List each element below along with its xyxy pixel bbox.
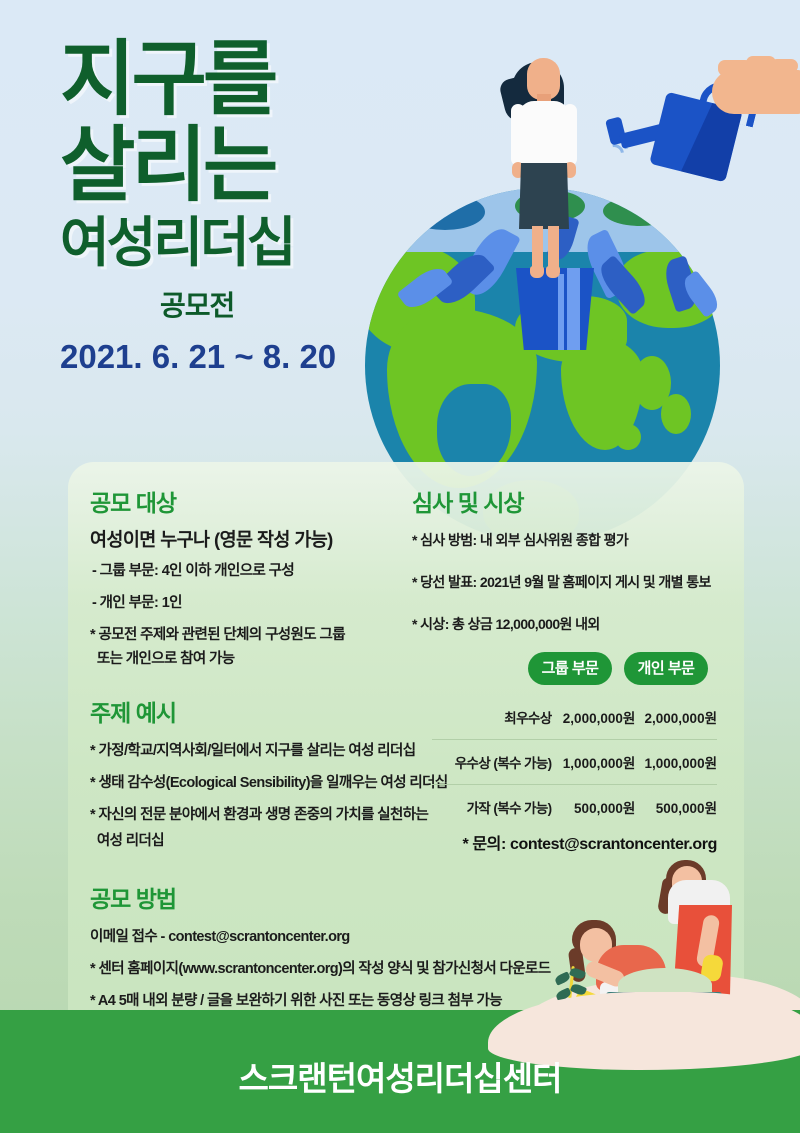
woman-foot-right bbox=[546, 266, 560, 278]
headline-line-1: 지구를 bbox=[60, 40, 460, 120]
section-title-judging: 심사 및 시상 bbox=[412, 484, 524, 518]
woman-hand-left bbox=[512, 162, 524, 178]
section-title-eligibility: 공모 대상 bbox=[90, 484, 176, 518]
section-title-topics: 주제 예시 bbox=[90, 694, 176, 728]
leaf-icon bbox=[594, 255, 652, 315]
leaf-icon bbox=[546, 214, 579, 262]
watering-can-rose bbox=[605, 116, 627, 145]
prize-name: 가작 (복수 가능) bbox=[432, 797, 552, 817]
howto-item: * 센터 홈페이지(www.scrantoncenter.org)의 작성 양식… bbox=[90, 958, 551, 980]
prize-individual-amount: 500,000원 bbox=[635, 797, 717, 817]
planter-pot bbox=[516, 268, 594, 350]
woman-hair bbox=[498, 76, 534, 125]
eligibility-item: - 개인 부문: 1인 bbox=[92, 592, 182, 614]
leaf-icon bbox=[661, 255, 702, 312]
headline-line-2: 살리는 bbox=[60, 126, 460, 206]
woman-arm-left bbox=[511, 104, 525, 166]
woman-arm-right bbox=[563, 104, 577, 166]
judging-item: * 당선 발표: 2021년 9월 말 홈페이지 게시 및 개별 통보 bbox=[412, 572, 711, 592]
hand-icon bbox=[712, 70, 800, 114]
watering-can-shadow bbox=[649, 92, 743, 183]
woman-neck bbox=[537, 94, 551, 108]
table-row: 최우수상 2,000,000원 2,000,000원 bbox=[432, 695, 717, 740]
topic-item: 여성 리더십 bbox=[90, 830, 164, 852]
watering-can-body bbox=[649, 92, 743, 183]
watering-can-handle bbox=[696, 78, 761, 128]
woman-leg-right bbox=[548, 226, 559, 274]
headline-line-3: 여성리더십 bbox=[60, 217, 460, 270]
eligibility-item: 또는 개인으로 참여 가능 bbox=[90, 648, 235, 670]
poster-root: 지구를 살리는 여성리더십 공모전 2021. 6. 21 ~ 8. 20 공모… bbox=[0, 0, 800, 1133]
table-row: 가작 (복수 가능) 500,000원 500,000원 bbox=[432, 785, 717, 829]
topic-item: * 자신의 전문 분야에서 환경과 생명 존중의 가치를 실천하는 bbox=[90, 804, 428, 826]
woman-leg-left bbox=[532, 226, 543, 274]
eligibility-item: * 공모전 주제와 관련된 단체의 구성원도 그룹 bbox=[90, 624, 345, 646]
prize-group-amount: 2,000,000원 bbox=[552, 707, 636, 727]
eligibility-item: - 그룹 부문: 4인 이하 개인으로 구성 bbox=[92, 560, 294, 582]
judging-item: * 시상: 총 상금 12,000,000원 내외 bbox=[412, 614, 600, 634]
leaf-icon bbox=[579, 229, 634, 300]
topic-item: * 가정/학교/지역사회/일터에서 지구를 살리는 여성 리더십 bbox=[90, 740, 416, 762]
woman-foot-left bbox=[530, 266, 544, 278]
contact-email: * 문의: contest@scrantoncenter.org bbox=[432, 830, 717, 854]
prize-name: 최우수상 bbox=[432, 707, 552, 727]
headline-block: 지구를 살리는 여성리더십 공모전 2021. 6. 21 ~ 8. 20 bbox=[60, 40, 460, 376]
organization-name: 스크랜턴여성리더십센터 bbox=[0, 1052, 800, 1100]
prize-group-amount: 500,000원 bbox=[552, 797, 636, 817]
woman-hair bbox=[512, 62, 564, 128]
prize-name: 우수상 (복수 가능) bbox=[432, 752, 552, 772]
woman-head bbox=[527, 58, 560, 100]
topic-item: * 생태 감수성(Ecological Sensibility)을 일깨우는 여… bbox=[90, 772, 448, 794]
woman-hand-right bbox=[564, 162, 576, 178]
prize-individual-amount: 2,000,000원 bbox=[635, 707, 717, 727]
water-drops-icon bbox=[588, 124, 632, 170]
leaf-icon bbox=[679, 270, 723, 318]
prize-table: 최우수상 2,000,000원 2,000,000원 우수상 (복수 가능) 1… bbox=[432, 695, 717, 829]
headline-subtitle: 공모전 bbox=[160, 284, 460, 324]
watering-can-spout bbox=[619, 122, 671, 149]
date-range: 2021. 6. 21 ~ 8. 20 bbox=[60, 338, 460, 376]
table-row: 우수상 (복수 가능) 1,000,000원 1,000,000원 bbox=[432, 740, 717, 785]
leaf-icon bbox=[457, 222, 521, 302]
prize-group-amount: 1,000,000원 bbox=[552, 752, 636, 772]
woman-blouse bbox=[518, 101, 570, 169]
eligibility-lead: 여성이면 누구나 (영문 작성 가능) bbox=[90, 526, 333, 552]
judging-item: * 심사 방범: 내 외부 심사위원 종합 평가 bbox=[412, 530, 628, 550]
section-title-howto: 공모 방법 bbox=[90, 880, 176, 914]
howto-item: 이메일 접수 - contest@scrantoncenter.org bbox=[90, 926, 350, 948]
prize-column-header-individual: 개인 부문 bbox=[624, 652, 708, 685]
prize-individual-amount: 1,000,000원 bbox=[635, 752, 717, 772]
woman-skirt bbox=[519, 163, 569, 229]
prize-column-header-group: 그룹 부문 bbox=[528, 652, 612, 685]
